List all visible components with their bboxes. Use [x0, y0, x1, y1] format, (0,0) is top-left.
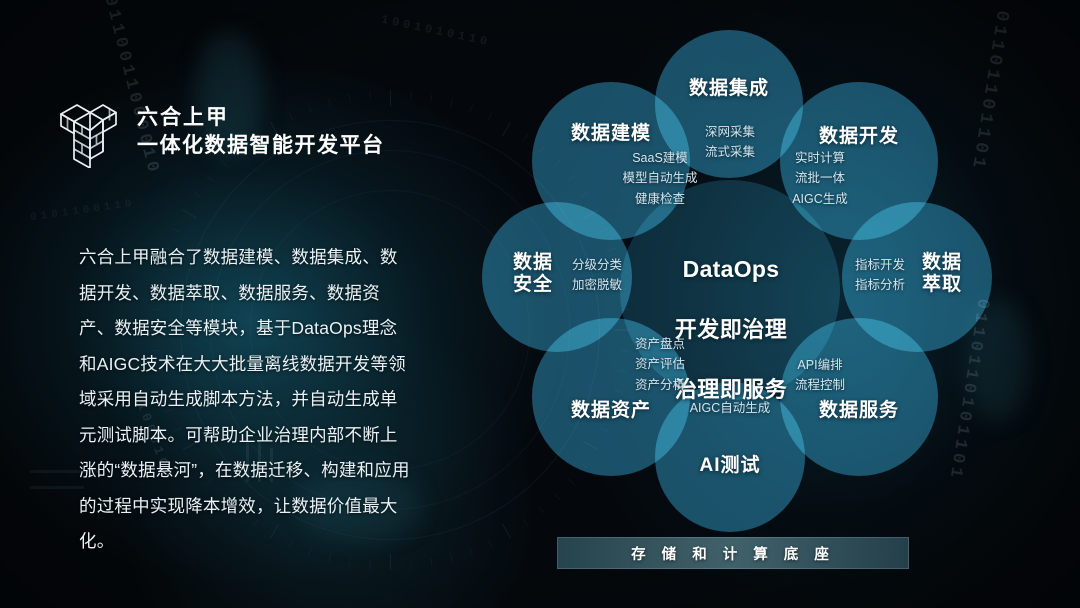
- left-content-column: 六合上甲 一体化数据智能开发平台 六合上甲融合了数据建模、数据集成、数据开发、数…: [0, 0, 470, 608]
- foundation-bar-label: 存 储 和 计 算 底 座: [631, 543, 835, 564]
- sublabel-data-service: API编排 流程控制: [760, 355, 880, 396]
- sublabel-data-asset: 资产盘点 资产评估 资产分析: [600, 334, 720, 395]
- sublabel-data-extraction: 指标开发 指标分析: [838, 255, 922, 296]
- brand-lockup: 六合上甲 一体化数据智能开发平台: [57, 96, 385, 168]
- product-description: 六合上甲融合了数据建模、数据集成、数据开发、数据萃取、数据服务、数据资产、数据安…: [79, 240, 412, 560]
- label-ai-testing: AI测试: [655, 455, 805, 477]
- capability-venn-diagram: 数据集成 数据建模 数据开发 数据 安全 数据 萃取 数据资产 数据服务 AI测…: [450, 0, 1080, 608]
- core-en-text: DataOps: [625, 254, 837, 285]
- label-data-integration: 数据集成: [654, 78, 804, 100]
- sublabel-integration-overlap: 深网采集 流式采集: [672, 122, 788, 163]
- sublabel-aigc-overlap: AIGC自动生成: [662, 398, 798, 418]
- brand-subtitle: 一体化数据智能开发平台: [137, 133, 385, 159]
- brick-wall-logo-icon: [57, 96, 119, 168]
- brand-name: 六合上甲: [137, 105, 385, 131]
- label-data-development: 数据开发: [778, 126, 940, 148]
- foundation-bar[interactable]: 存 储 和 计 算 底 座: [557, 537, 909, 569]
- sublabel-data-security: 分级分类 加密脱敏: [555, 255, 639, 296]
- label-data-modeling: 数据建模: [530, 123, 692, 145]
